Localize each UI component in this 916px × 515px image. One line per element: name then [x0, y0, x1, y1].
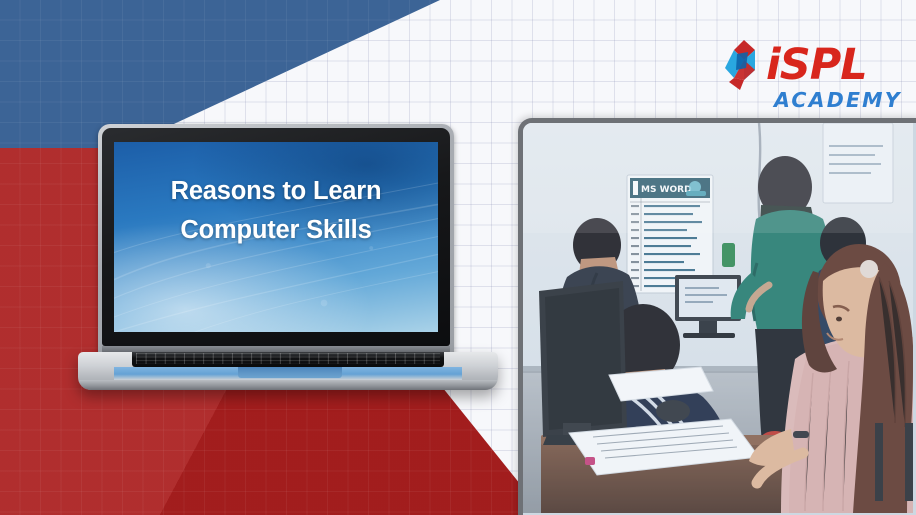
laptop-base — [78, 352, 498, 390]
lab-photo: MS WORD — [523, 123, 916, 515]
logo-main-row: iSPL — [722, 38, 867, 92]
logo-wordmark: iSPL — [766, 44, 867, 87]
laptop-screen: Reasons to Learn Computer Skills — [114, 142, 438, 332]
screen-headline-line-1: Reasons to Learn — [128, 172, 424, 211]
laptop-mockup: Reasons to Learn Computer Skills — [78, 124, 498, 392]
laptop-bezel: Reasons to Learn Computer Skills — [102, 128, 450, 346]
ispl-diamond-icon — [722, 38, 762, 92]
laptop-keyboard — [132, 352, 444, 367]
screen-headline: Reasons to Learn Computer Skills — [114, 172, 438, 250]
keyboard-keys — [136, 353, 440, 364]
logo-subtext: ACADEMY — [774, 90, 902, 111]
ispl-academy-logo: iSPL ACADEMY — [722, 38, 882, 108]
lab-photo-illustration: MS WORD — [523, 123, 913, 513]
laptop-trackpad — [238, 367, 342, 378]
poster-canvas: Reasons to Learn Computer Skills — [0, 0, 916, 515]
laptop-base-lip — [78, 380, 498, 390]
laptop-lid: Reasons to Learn Computer Skills — [98, 124, 454, 357]
lab-photo-card: MS WORD — [518, 118, 916, 515]
screen-headline-line-2: Computer Skills — [128, 211, 424, 250]
